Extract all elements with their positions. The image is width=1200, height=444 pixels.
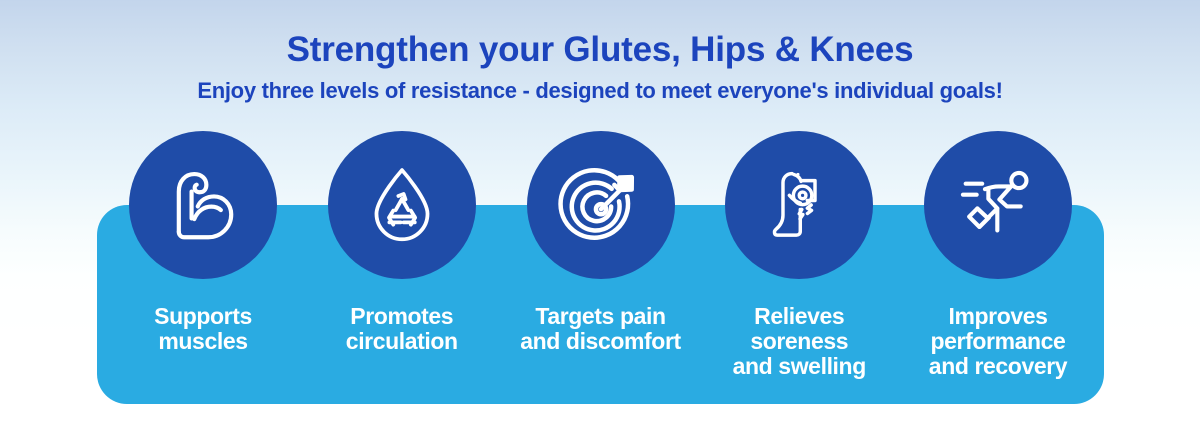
icon-circle: [725, 131, 873, 279]
features-list: Supports muscles: [97, 131, 1104, 404]
feature-improves-performance: Improves performance and recovery: [903, 131, 1093, 379]
icon-circle: [924, 131, 1072, 279]
icon-circle: [328, 131, 476, 279]
feature-label: Relieves soreness and swelling: [733, 304, 866, 379]
feature-supports-muscles: Supports muscles: [108, 131, 298, 354]
feature-promotes-circulation: Promotes circulation: [307, 131, 497, 354]
knee-pain-leg-icon: [758, 164, 840, 246]
icon-circle: [527, 131, 675, 279]
water-drop-recycle-icon: [359, 162, 445, 248]
target-bullseye-arrow-icon: [556, 160, 646, 250]
page-subtitle: Enjoy three levels of resistance - desig…: [0, 76, 1200, 106]
running-person-icon: [954, 161, 1042, 249]
feature-label: Improves performance and recovery: [929, 304, 1067, 379]
feature-targets-pain: Targets pain and discomfort: [506, 131, 696, 354]
page-title: Strengthen your Glutes, Hips & Knees: [0, 28, 1200, 72]
icon-circle: [129, 131, 277, 279]
banner-heading-group: Strengthen your Glutes, Hips & Knees Enj…: [0, 28, 1200, 106]
feature-relieves-soreness: Relieves soreness and swelling: [704, 131, 894, 379]
promo-banner: Strengthen your Glutes, Hips & Knees Enj…: [0, 0, 1200, 444]
flexed-bicep-icon: [160, 162, 246, 248]
feature-label: Supports muscles: [154, 304, 252, 354]
feature-label: Promotes circulation: [346, 304, 458, 354]
feature-label: Targets pain and discomfort: [520, 304, 681, 354]
